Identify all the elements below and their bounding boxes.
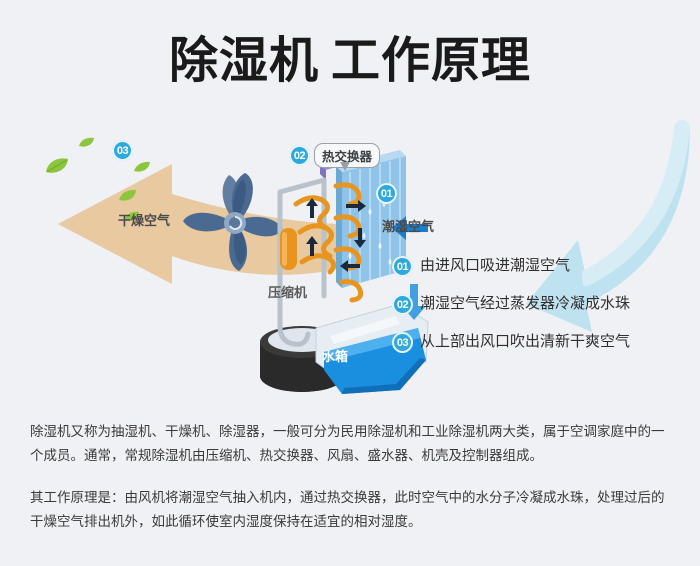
water-tank-label: 水箱 [322,346,348,365]
badge-01-diagram: 01 [376,183,397,204]
legend-badge-02: 02 [392,294,413,315]
legend-badge-01: 01 [392,256,413,277]
leaf-icon [133,160,151,174]
infographic-page: 除湿机工作原理 [0,0,700,566]
callout-tail-icon [340,162,350,171]
legend-item: 02 潮湿空气经过蒸发器冷凝成水珠 [392,293,692,331]
humid-air-label: 潮湿空气 [382,216,434,235]
leaf-icon [118,188,137,203]
compressor-label: 压缩机 [268,282,307,301]
legend-badge-03: 03 [392,332,413,353]
page-title-part1: 除湿机 [169,34,319,88]
legend-item: 01 由进风口吸进潮湿空气 [392,255,692,293]
leaf-icon [44,156,70,176]
badge-02-diagram: 02 [289,145,310,166]
page-title-part2: 工作原理 [331,34,531,88]
legend-item: 03 从上部出风口吹出清新干爽空气 [392,331,692,369]
paragraph-1: 除湿机又称为抽湿机、干燥机、除湿器，一般可分为民用除湿机和工业除湿机两大类，属于… [30,420,675,468]
legend-text-02: 潮湿空气经过蒸发器冷凝成水珠 [420,293,630,315]
badge-03-diagram: 03 [112,140,133,161]
page-title: 除湿机工作原理 [0,30,700,92]
legend-text-01: 由进风口吸进潮湿空气 [420,255,570,277]
dry-air-label: 干燥空气 [118,210,170,229]
body-copy: 除湿机又称为抽湿机、干燥机、除湿器，一般可分为民用除湿机和工业除湿机两大类，属于… [30,420,675,534]
legend-text-03: 从上部出风口吹出清新干爽空气 [420,331,630,353]
legend-list: 01 由进风口吸进潮湿空气 02 潮湿空气经过蒸发器冷凝成水珠 03 从上部出风… [392,255,692,369]
leaf-icon [78,136,95,149]
paragraph-2: 其工作原理是：由风机将潮湿空气抽入机内，通过热交换器，此时空气中的水分子冷凝成水… [30,486,675,534]
